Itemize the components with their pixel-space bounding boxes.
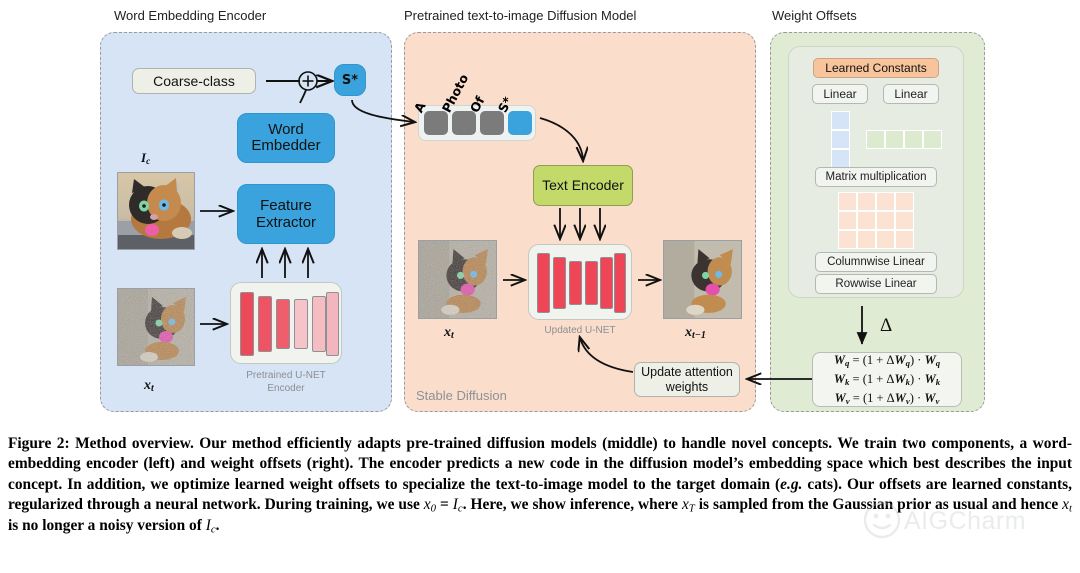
product-matrix-cell-r1c2: [857, 192, 876, 211]
updated-unet-shell: [528, 244, 632, 320]
xt-text-mid: x: [444, 325, 451, 340]
panel-title-diffusion-model: Pretrained text-to-image Diffusion Model: [404, 8, 636, 23]
token-box-of[interactable]: [480, 111, 504, 135]
pretrained-unet-encoder-shell: [230, 282, 342, 364]
product-matrix-cell-r2c4: [895, 211, 914, 230]
coarse-class-label: Coarse-class: [153, 73, 235, 89]
token-box-s-star[interactable]: [508, 111, 532, 135]
linear-right-box[interactable]: Linear: [883, 84, 939, 104]
token-box-photo[interactable]: [452, 111, 476, 135]
product-matrix-cell-r2c2: [857, 211, 876, 230]
columnwise-linear-box[interactable]: Columnwise Linear: [815, 252, 937, 272]
denoised-image-xt-minus-1: [663, 240, 742, 319]
formula-line-wv: Wv = (1 + ΔWv) · Wv: [835, 389, 940, 408]
s-star-label: S*: [342, 73, 358, 88]
updated-unet-bar-2: [553, 257, 566, 309]
product-matrix-cell-r3c1: [838, 230, 857, 249]
feature-extractor-label: Feature Extractor: [238, 197, 334, 232]
caption-label: Figure 2:: [8, 435, 70, 452]
columnwise-linear-label: Columnwise Linear: [827, 256, 925, 268]
unet-bar-5: [312, 296, 326, 352]
constants-row-cell-2: [885, 130, 904, 149]
constants-row-cell-1: [866, 130, 885, 149]
update-attention-weights-box[interactable]: Update attention weights: [634, 362, 740, 397]
update-attention-weights-label: Update attention weights: [635, 365, 739, 394]
text-encoder-box[interactable]: Text Encoder: [533, 165, 633, 206]
xt1-text: x: [685, 325, 692, 340]
feature-extractor-box[interactable]: Feature Extractor: [237, 184, 335, 244]
weight-offsets-formula-box: Wq = (1 + ΔWq) · Wq Wk = (1 + ΔWk) · Wk …: [812, 352, 962, 407]
xt-minus-1-variable-label: xt−1: [685, 325, 706, 341]
product-matrix-cell-r3c3: [876, 230, 895, 249]
updated-unet-bar-5: [600, 257, 613, 309]
unet-bar-1: [240, 292, 254, 356]
token-box-a[interactable]: [424, 111, 448, 135]
learned-constants-box[interactable]: Learned Constants: [813, 58, 939, 78]
formula-line-wk: Wk = (1 + ΔWk) · Wk: [834, 370, 940, 389]
formula-line-wq: Wq = (1 + ΔWq) · Wq: [834, 351, 940, 370]
word-embedder-box[interactable]: Word Embedder: [237, 113, 335, 163]
matrix-multiplication-label: Matrix multiplication: [826, 171, 927, 183]
product-matrix-cell-r3c2: [857, 230, 876, 249]
product-matrix-cell-r1c1: [838, 192, 857, 211]
rowwise-linear-label: Rowwise Linear: [835, 278, 916, 290]
updated-unet-bar-6: [614, 253, 626, 313]
rowwise-linear-box[interactable]: Rowwise Linear: [815, 274, 937, 294]
linear-left-box[interactable]: Linear: [812, 84, 868, 104]
updated-unet-bar-3: [569, 261, 582, 305]
updated-unet-bar-4: [585, 261, 598, 305]
unet-bar-3: [276, 299, 290, 349]
stable-diffusion-label: Stable Diffusion: [416, 388, 507, 403]
s-star-token-box[interactable]: S*: [334, 64, 366, 96]
product-matrix-cell-r1c4: [895, 192, 914, 211]
constants-row-cell-4: [923, 130, 942, 149]
linear-right-label: Linear: [894, 87, 927, 101]
pretrained-unet-caption-line1: Pretrained U-NET: [230, 370, 342, 381]
noisy-image-xt-encoder: [117, 288, 195, 366]
linear-left-label: Linear: [823, 87, 856, 101]
pretrained-unet-caption-line2: Encoder: [230, 383, 342, 394]
updated-unet-bar-1: [537, 253, 550, 313]
figure-diagram: Word Embedding Encoder Pretrained text-t…: [0, 0, 1080, 430]
xt-text: x: [144, 378, 151, 393]
product-matrix-cell-r3c4: [895, 230, 914, 249]
matrix-multiplication-box[interactable]: Matrix multiplication: [815, 167, 937, 187]
learned-constants-label: Learned Constants: [825, 61, 926, 75]
panel-title-word-embedding-encoder: Word Embedding Encoder: [114, 8, 266, 23]
xt-variable-label-diffusion: xt: [444, 325, 454, 341]
unet-bar-4: [294, 299, 308, 349]
noisy-image-xt-diffusion: [418, 240, 497, 319]
product-matrix-cell-r1c3: [876, 192, 895, 211]
unet-bar-6: [326, 292, 339, 356]
word-embedder-label: Word Embedder: [238, 122, 334, 155]
constants-column-cell-2: [831, 130, 850, 149]
coarse-class-box[interactable]: Coarse-class: [132, 68, 256, 94]
unet-bar-2: [258, 296, 272, 352]
constants-column-cell-1: [831, 111, 850, 130]
ic-variable-label: Ic: [141, 150, 150, 167]
xt-variable-label-encoder: xt: [144, 378, 154, 394]
text-encoder-label: Text Encoder: [542, 178, 624, 193]
figure-caption: Figure 2: Method overview. Our method ef…: [8, 434, 1072, 537]
concept-image-ic: [117, 172, 195, 250]
updated-unet-caption: Updated U-NET: [528, 325, 632, 336]
constants-row-cell-3: [904, 130, 923, 149]
panel-title-weight-offsets: Weight Offsets: [772, 8, 857, 23]
constants-column-cell-3: [831, 149, 850, 168]
product-matrix-cell-r2c1: [838, 211, 857, 230]
product-matrix-cell-r2c3: [876, 211, 895, 230]
delta-symbol-label: Δ: [880, 315, 892, 337]
